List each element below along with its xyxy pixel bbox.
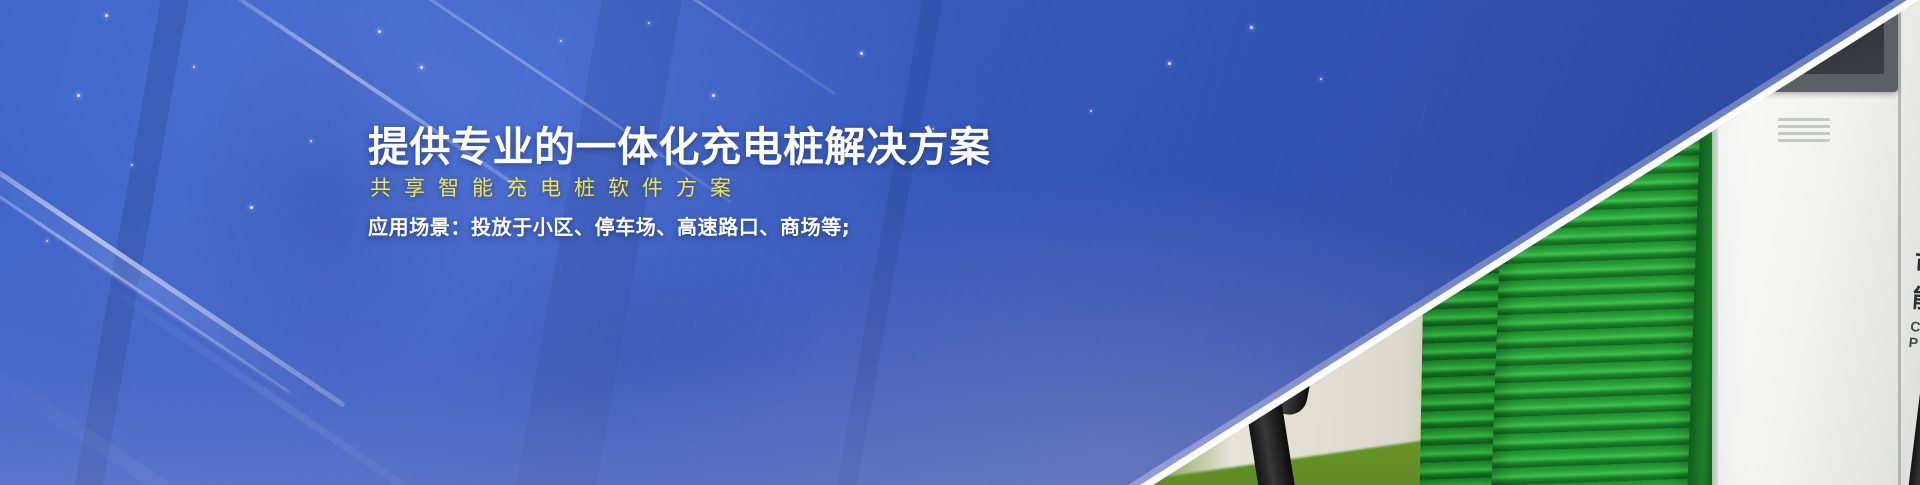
banner-headline: 提供专业的一体化充电桩解决方案	[368, 113, 991, 173]
cabinet-seam	[1898, 0, 1901, 485]
banner-subheadline: 共享智能充电桩软件方案	[370, 172, 744, 202]
banner-scene-line: 应用场景：投放于小区、停车场、高速路口、商场等;	[368, 211, 850, 240]
hero-banner: A 市政新能源 CHARGING PILE 提供专业的一体化充电桩解决方案 共享…	[0, 0, 1920, 485]
cabinet-vent-grille	[1778, 118, 1830, 142]
banner-copy-block: 提供专业的一体化充电桩解决方案 共享智能充电桩软件方案 应用场景：投放于小区、停…	[0, 0, 920, 485]
